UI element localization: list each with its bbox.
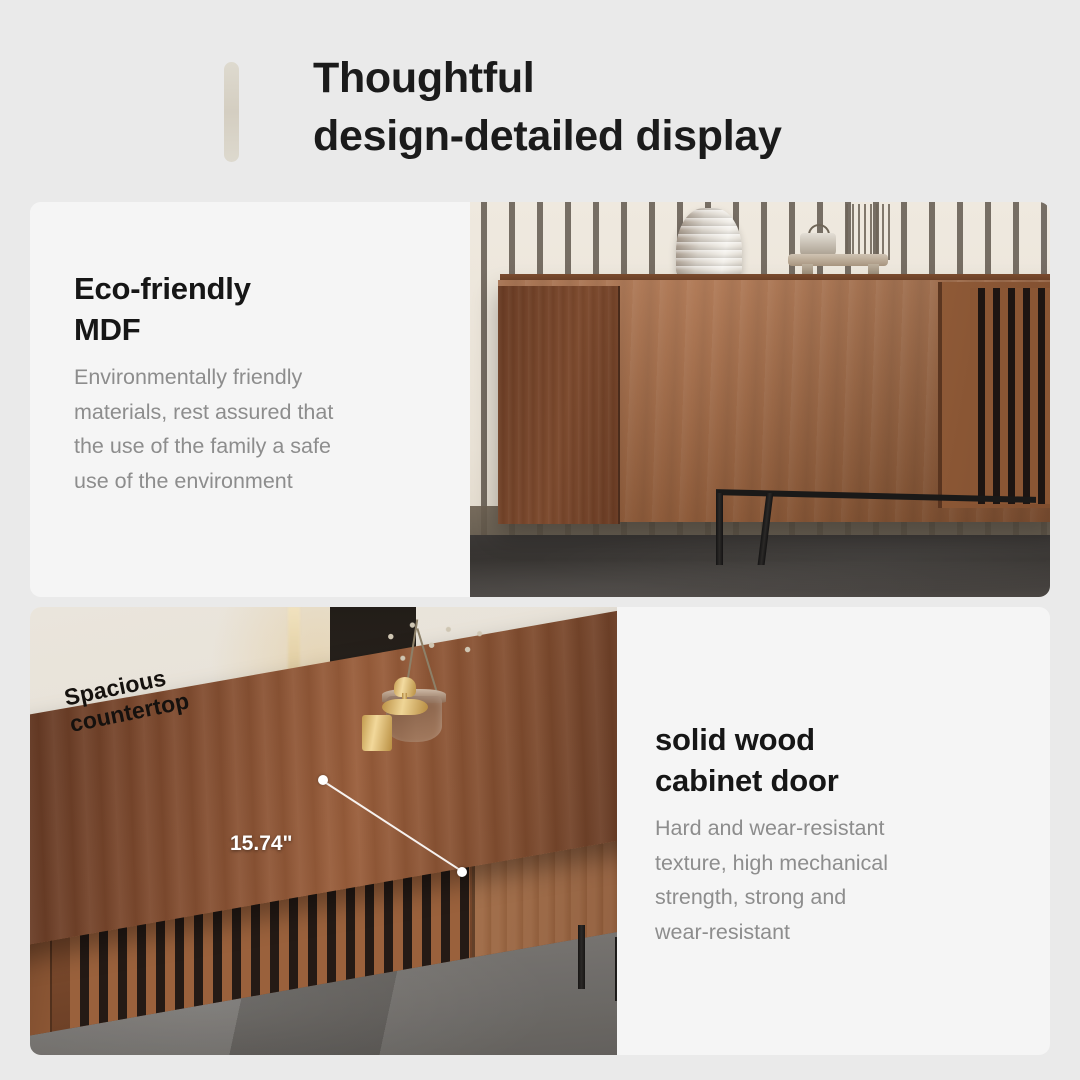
product-photo-solid-wood-cabinet-door: Spacious countertop 15.74" <box>30 607 617 1055</box>
annotation-dot-start-icon <box>318 775 328 785</box>
cabinet-door-slats <box>970 288 1050 504</box>
cabinet-leg <box>716 493 723 565</box>
decor-dried-buds <box>374 615 494 687</box>
cabinet-side-panel <box>498 286 620 524</box>
decor-metal-rods <box>846 204 892 260</box>
feature-panel-solid-wood-cabinet-door: Spacious countertop 15.74" solid wood ca… <box>30 607 1050 1055</box>
feature-body: Environmentally friendly materials, rest… <box>74 360 470 498</box>
cabinet-slat-door <box>938 282 1050 508</box>
feature-text-block: solid wood cabinet door Hard and wear-re… <box>617 607 1020 1055</box>
annotation-dot-end-icon <box>457 867 467 877</box>
decor-brass-candle-holder <box>362 715 392 751</box>
feature-title: Eco-friendly MDF <box>74 268 470 350</box>
annotation-measurement: 15.74" <box>230 832 293 856</box>
cabinet-leg <box>578 925 585 989</box>
feature-title: solid wood cabinet door <box>655 719 1020 801</box>
feature-body: Hard and wear-resistant texture, high me… <box>655 811 1020 949</box>
page-title: Thoughtful design-detailed display <box>313 50 782 165</box>
feature-text-block: Eco-friendly MDF Environmentally friendl… <box>30 202 470 597</box>
feature-panel-eco-friendly-mdf: Eco-friendly MDF Environmentally friendl… <box>30 202 1050 597</box>
page-header: Thoughtful design-detailed display <box>0 0 1080 192</box>
decor-vase <box>676 208 742 282</box>
product-photo-eco-friendly-mdf <box>470 202 1050 597</box>
decor-brass-candle-dish <box>382 699 428 715</box>
accent-bar-icon <box>224 62 239 162</box>
